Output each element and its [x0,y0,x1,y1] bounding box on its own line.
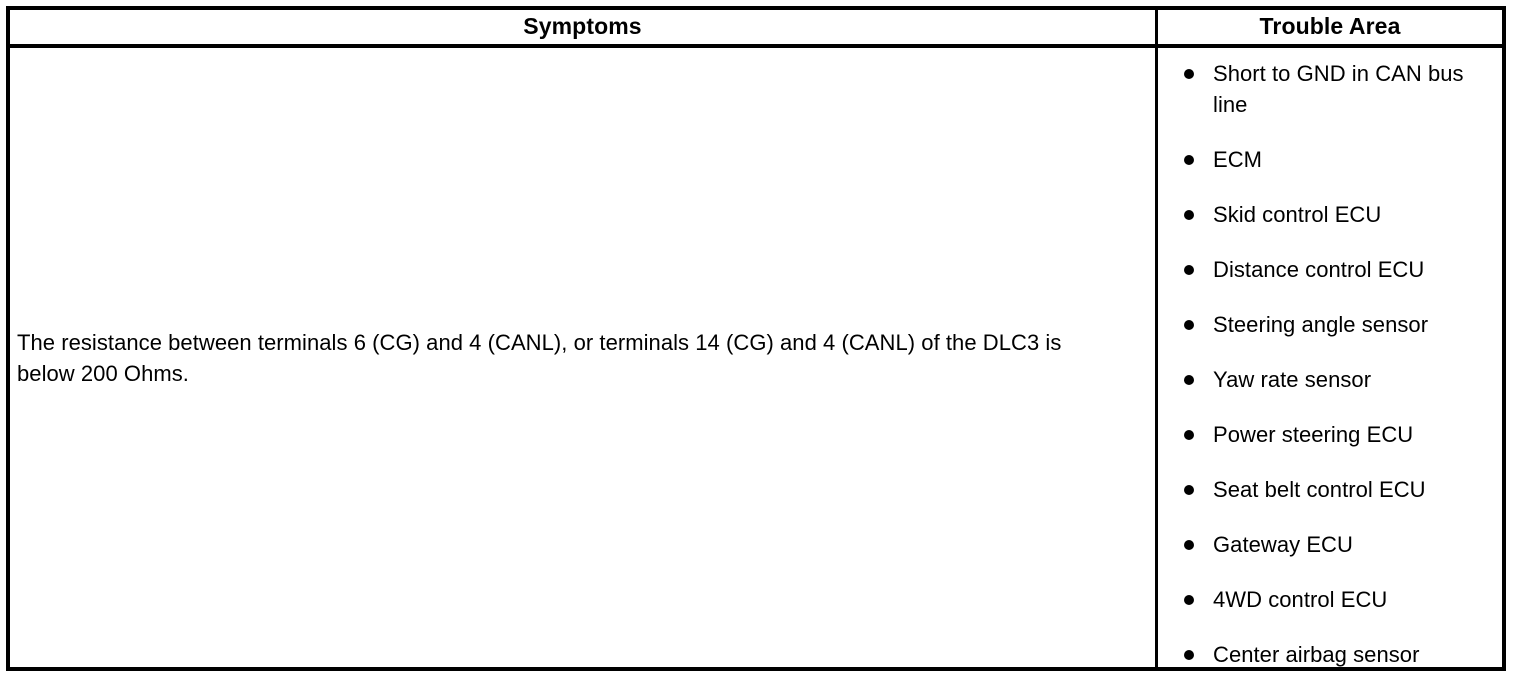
list-item: Distance control ECU [1184,254,1500,285]
list-item: Short to GND in CAN bus line [1184,58,1500,120]
bullet-point-icon [1184,375,1194,385]
bullet-point-icon [1184,265,1194,275]
list-item: Gateway ECU [1184,529,1500,560]
list-item-label: Steering angle sensor [1213,312,1428,337]
column-header-trouble-area-label: Trouble Area [1260,15,1401,38]
list-item: Seat belt control ECU [1184,474,1500,505]
table-header-row: Symptoms Trouble Area [10,10,1502,48]
list-item: 4WD control ECU [1184,584,1500,615]
list-item: Yaw rate sensor [1184,364,1500,395]
bullet-point-icon [1184,485,1194,495]
trouble-area-list: Short to GND in CAN bus line ECM Skid co… [1184,58,1500,667]
column-header-trouble-area: Trouble Area [1158,10,1502,44]
list-item-label: Yaw rate sensor [1213,367,1371,392]
list-item: Skid control ECU [1184,199,1500,230]
list-item: Steering angle sensor [1184,309,1500,340]
bullet-point-icon [1184,540,1194,550]
bullet-point-icon [1184,320,1194,330]
list-item-label: 4WD control ECU [1213,587,1387,612]
cell-trouble-area: Short to GND in CAN bus line ECM Skid co… [1158,48,1502,667]
list-item: ECM [1184,144,1500,175]
list-item-label: Distance control ECU [1213,257,1424,282]
bullet-point-icon [1184,210,1194,220]
page-root: Symptoms Trouble Area The resistance bet… [0,0,1520,678]
list-item-label: Gateway ECU [1213,532,1353,557]
list-item-label: Seat belt control ECU [1213,477,1426,502]
list-item-label: Short to GND in CAN bus line [1213,61,1464,117]
bullet-point-icon [1184,155,1194,165]
list-item-label: Power steering ECU [1213,422,1413,447]
list-item: Center airbag sensor [1184,639,1500,667]
list-item-label: ECM [1213,147,1262,172]
list-item: Power steering ECU [1184,419,1500,450]
bullet-point-icon [1184,430,1194,440]
column-header-symptoms-label: Symptoms [523,15,641,38]
list-item-label: Center airbag sensor [1213,642,1419,667]
cell-symptoms: The resistance between terminals 6 (CG) … [10,48,1158,667]
bullet-point-icon [1184,650,1194,660]
column-header-symptoms: Symptoms [10,10,1158,44]
symptom-description: The resistance between terminals 6 (CG) … [17,327,1109,389]
list-item-label: Skid control ECU [1213,202,1381,227]
bullet-point-icon [1184,595,1194,605]
table-row: The resistance between terminals 6 (CG) … [10,48,1502,667]
symptom-trouble-table: Symptoms Trouble Area The resistance bet… [6,6,1506,671]
bullet-point-icon [1184,69,1194,79]
